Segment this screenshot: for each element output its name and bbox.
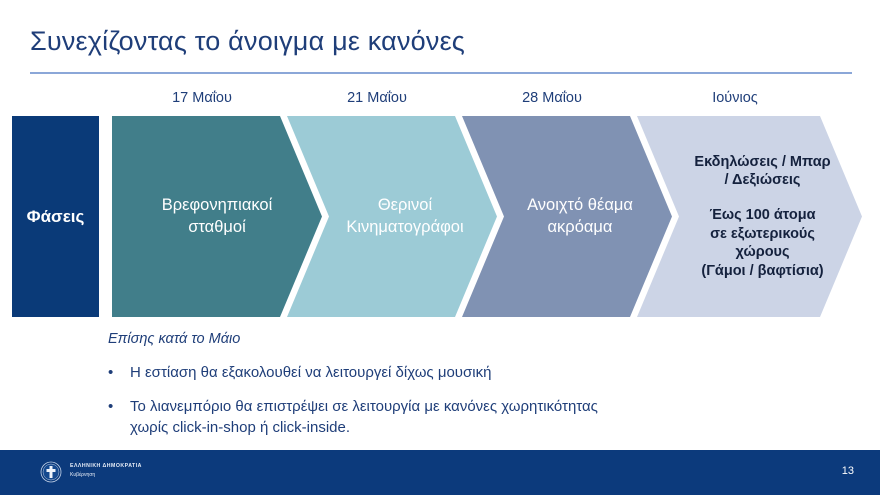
- text-block: Ανοιχτό θέαμαακρόαμα: [527, 195, 633, 237]
- text-line: ακρόαμα: [527, 217, 633, 238]
- timeline-date-3: Ιούνιος: [645, 90, 825, 106]
- text-line: σταθμοί: [162, 217, 273, 238]
- text-line: Εκδηλώσεις / Μπαρ: [694, 153, 830, 172]
- bullet-marker-icon: •: [108, 362, 130, 383]
- text-block: Βρεφονηπιακοίσταθμοί: [162, 195, 273, 237]
- presentation-slide: Συνεχίζοντας το άνοιγμα με κανόνες 17 Μα…: [0, 0, 880, 495]
- list-item-text: Η εστίαση θα εξακολουθεί να λειτουργεί δ…: [130, 362, 491, 383]
- text-line: Βρεφονηπιακοί: [162, 195, 273, 216]
- text-line: Κινηματογράφοι: [346, 217, 463, 238]
- timeline-date-1: 21 Μαΐου: [287, 90, 467, 106]
- text-block: Έως 100 άτομασε εξωτερικούςχώρους(Γάμοι …: [694, 206, 830, 280]
- text-line: / Δεξιώσεις: [694, 171, 830, 190]
- slide-footer: ΕΛΛΗΝΙΚΗ ΔΗΜΟΚΡΑΤΙΑ Κυβέρνηση 13: [0, 450, 880, 495]
- stage-events-label: Εκδηλώσεις / Μπαρ/ ΔεξιώσειςΈως 100 άτομ…: [668, 153, 830, 280]
- phases-label-box: Φάσεις: [12, 116, 99, 317]
- text-line: σε εξωτερικούς: [694, 225, 830, 244]
- text-line: χώρους: [694, 243, 830, 262]
- timeline-date-2: 28 Μαΐου: [462, 90, 642, 106]
- text-line: Η εστίαση θα εξακολουθεί να λειτουργεί δ…: [130, 362, 491, 383]
- page-number: 13: [842, 465, 854, 477]
- timeline-date-0: 17 Μαΐου: [112, 90, 292, 106]
- greek-republic-emblem-icon: [40, 461, 62, 483]
- text-block: Εκδηλώσεις / Μπαρ/ Δεξιώσεις: [694, 153, 830, 190]
- footer-logo-line-1: ΕΛΛΗΝΙΚΗ ΔΗΜΟΚΡΑΤΙΑ: [70, 463, 142, 469]
- list-item: •Η εστίαση θα εξακολουθεί να λειτουργεί …: [108, 362, 768, 383]
- stage-summer-cinemas-label: ΘερινοίΚινηματογράφοι: [320, 195, 463, 237]
- footer-logo-line-2: Κυβέρνηση: [70, 472, 142, 478]
- list-item: •Το λιανεμπόριο θα επιστρέψει σε λειτουρ…: [108, 396, 768, 439]
- text-line: Έως 100 άτομα: [694, 206, 830, 225]
- bullet-marker-icon: •: [108, 396, 130, 417]
- text-line: (Γάμοι / βαφτίσια): [694, 262, 830, 281]
- notes-subheading: Επίσης κατά το Μάιο: [108, 331, 240, 347]
- text-line: χωρίς click-in-shop ή click-inside.: [130, 417, 598, 438]
- text-line: Θερινοί: [346, 195, 463, 216]
- stage-open-venues-label: Ανοιχτό θέαμαακρόαμα: [501, 195, 633, 237]
- stage-nurseries-label: Βρεφονηπιακοίσταθμοί: [162, 195, 273, 237]
- phases-label: Φάσεις: [27, 207, 85, 227]
- stage-nurseries: Βρεφονηπιακοίσταθμοί: [112, 116, 322, 317]
- text-line: Ανοιχτό θέαμα: [527, 195, 633, 216]
- text-block: ΘερινοίΚινηματογράφοι: [346, 195, 463, 237]
- list-item-text: Το λιανεμπόριο θα επιστρέψει σε λειτουργ…: [130, 396, 598, 439]
- text-line: Το λιανεμπόριο θα επιστρέψει σε λειτουργ…: [130, 396, 598, 417]
- footer-logo-text: ΕΛΛΗΝΙΚΗ ΔΗΜΟΚΡΑΤΙΑ Κυβέρνηση: [70, 463, 142, 478]
- title-divider: [30, 72, 852, 74]
- page-title: Συνεχίζοντας το άνοιγμα με κανόνες: [30, 26, 465, 57]
